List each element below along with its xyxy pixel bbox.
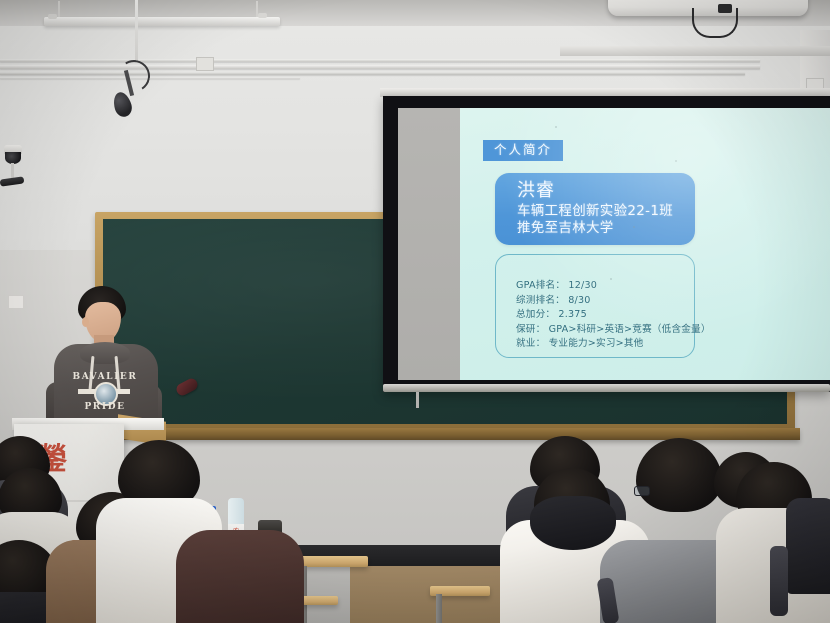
detail-line-grad: 保研： GPA>科研>英语>竞赛（低含金量） [516, 323, 694, 338]
conduit-pipe [0, 72, 745, 75]
detail-line-bonus: 总加分： 2.375 [516, 308, 694, 323]
backpack [786, 498, 830, 594]
detail-line-job: 就业： 专业能力>实习>其他 [516, 337, 694, 352]
projection-screen: 个人简介 洪睿 车辆工程创新实验22-1班 推免至吉林大学 GPA排名： 12/… [398, 108, 830, 380]
light-bracket [258, 13, 267, 18]
name-card: 洪睿 车辆工程创新实验22-1班 推免至吉林大学 [495, 173, 695, 245]
hoodie-text-top: BAVALIER [70, 372, 140, 382]
projector-mount-rail [560, 46, 830, 56]
junction-box [196, 57, 214, 71]
camera-arm [11, 163, 14, 179]
screen-pull-cord [416, 392, 419, 408]
conduit-pipe [0, 59, 760, 62]
presenter-hood [80, 342, 130, 364]
light-bracket [48, 14, 57, 19]
ceiling-light-fixture [44, 17, 280, 26]
presentation-slide: 个人简介 洪睿 车辆工程创新实验22-1班 推免至吉林大学 GPA排名： 12/… [460, 108, 830, 380]
audience-hood [530, 496, 616, 550]
presenter-destination: 推免至吉林大学 [517, 220, 695, 238]
dust-speck [555, 126, 557, 128]
chalkboard-ledge [88, 428, 800, 440]
lecture-hall-photo: 个人简介 洪睿 车辆工程创新实验22-1班 推免至吉林大学 GPA排名： 12/… [0, 0, 830, 623]
dust-speck [633, 226, 635, 228]
presenter-ear [82, 317, 89, 327]
presenter-name: 洪睿 [517, 180, 695, 203]
detail-line-overall: 综测排名： 8/30 [516, 294, 694, 309]
conduit-pipe [0, 65, 760, 69]
detail-line-gpa: GPA排名： 12/30 [516, 279, 694, 294]
dust-speck [675, 160, 677, 162]
screen-weight-bar [383, 384, 830, 392]
backpack-strap [770, 546, 788, 616]
eyeglasses-icon [634, 486, 650, 496]
wall-plate [8, 295, 24, 309]
presenter: BAVALIER PRIDE [30, 286, 160, 431]
microphone-rod [135, 0, 138, 62]
detail-card: GPA排名： 12/30 综测排名： 8/30 总加分： 2.375 保研： G… [495, 254, 695, 358]
projector-cable [692, 8, 738, 38]
audience-body [176, 530, 304, 623]
slide-title: 个人简介 [483, 140, 563, 161]
dust-speck [610, 278, 612, 280]
hoodie-text-bottom: PRIDE [70, 402, 140, 412]
desk-leg [436, 594, 442, 623]
presenter-class: 车辆工程创新实验22-1班 [517, 203, 695, 221]
